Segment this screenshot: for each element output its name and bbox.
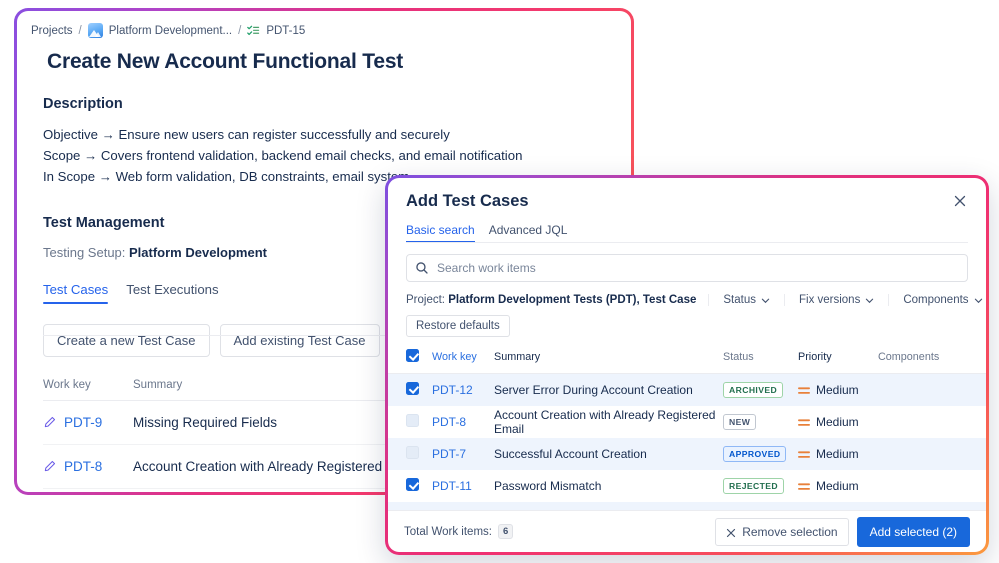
summary-text: Successful Account Creation [494,447,723,461]
tab-advanced-jql[interactable]: Advanced JQL [489,223,568,243]
modal-tabs: Basic search Advanced JQL [406,223,968,243]
search-icon [415,261,429,275]
priority-medium-icon [798,481,810,491]
filter-status-label: Status [723,294,756,306]
filter-fix-versions-label: Fix versions [799,294,860,306]
table-row[interactable]: PDT-12 Server Error During Account Creat… [388,374,986,406]
work-key-link[interactable]: PDT-7 [432,447,494,461]
summary-text: Account Creation with Already Registered… [494,408,723,436]
screenshot-root: Projects / Platform Development... / PDT… [0,0,999,563]
table-row[interactable]: PDT-8 Account Creation with Already Regi… [388,406,986,438]
page-title: Create New Account Functional Test [47,50,631,74]
summary-text: Account Creation with Already Registered… [133,459,420,474]
modal-header: Add Test Cases Basic search Advanced JQL [388,178,986,243]
tab-basic-search[interactable]: Basic search [406,223,475,243]
pencil-icon [43,460,56,473]
column-header-components: Components [878,351,968,363]
priority-medium-icon [798,385,810,395]
table-row[interactable]: PDT-11 Password Mismatch REJECTED Medium [388,470,986,502]
work-key-link[interactable]: PDT-8 [432,415,494,429]
priority-medium-icon [798,417,810,427]
chevron-down-icon [761,296,770,305]
total-work-items-count: 6 [498,524,513,539]
project-image-icon [88,23,103,38]
column-header-work-key: Work key [43,379,133,391]
summary-text: Password Mismatch [494,479,723,493]
row-checkbox[interactable] [406,382,419,395]
work-key-link[interactable]: PDT-12 [432,383,494,397]
add-test-cases-modal: Add Test Cases Basic search Advanced JQL [385,175,989,555]
filter-fix-versions-dropdown[interactable]: Fix versions [785,294,889,306]
table-row[interactable]: PDT-10 Invalid Email Format APPROVED Med… [388,502,986,510]
breadcrumb: Projects / Platform Development... / PDT… [17,11,631,38]
priority-label: Medium [816,415,859,429]
close-icon [726,527,736,537]
breadcrumb-project-link[interactable]: Platform Development... [109,25,232,37]
work-key-link[interactable]: PDT-11 [432,479,494,493]
row-checkbox[interactable] [406,414,419,427]
close-icon[interactable] [952,193,970,211]
breadcrumb-projects-link[interactable]: Projects [31,25,73,37]
row-checkbox[interactable] [406,478,419,491]
breadcrumb-separator-1: / [79,25,82,37]
add-existing-test-case-button[interactable]: Add existing Test Case [220,324,380,357]
status-badge: NEW [723,414,756,430]
tab-test-executions[interactable]: Test Executions [126,282,218,304]
priority-medium-icon [798,449,810,459]
remove-selection-button[interactable]: Remove selection [715,518,848,546]
description-heading: Description [43,96,631,112]
test-case-checklist-icon [247,24,260,37]
modal-footer-actions: Remove selection Add selected (2) [715,517,970,547]
filter-project-prefix: Project: [406,294,445,306]
work-key-link[interactable]: PDT-8 [64,459,102,474]
description-line: Objective → Ensure new users can registe… [43,124,631,145]
modal-footer: Total Work items: 6 Remove selection Add… [388,510,986,552]
status-badge: ARCHIVED [723,382,783,398]
summary-text: Server Error During Account Creation [494,383,723,397]
add-selected-button[interactable]: Add selected (2) [857,517,970,547]
row-checkbox[interactable] [406,446,419,459]
select-all-checkbox[interactable] [406,349,419,362]
priority-label: Medium [816,479,859,493]
filter-components-label: Components [903,294,968,306]
column-header-work-key: Work key [432,351,494,363]
search-input[interactable] [406,254,968,282]
pencil-icon [43,416,56,429]
summary-text: Missing Required Fields [133,415,277,430]
total-work-items: Total Work items: 6 [404,524,513,539]
modal-inner: Add Test Cases Basic search Advanced JQL [388,178,986,552]
status-badge: REJECTED [723,478,784,494]
filter-components-dropdown[interactable]: Components [889,294,986,306]
filter-project-value: Platform Development Tests (PDT), Test C… [448,294,696,306]
column-header-summary: Summary [133,379,182,391]
filter-project: Project: Platform Development Tests (PDT… [406,294,709,306]
status-badge: APPROVED [723,446,786,462]
column-header-priority: Priority [798,351,878,363]
breadcrumb-separator-2: / [238,25,241,37]
work-key-link[interactable]: PDT-9 [64,415,102,430]
filter-status-dropdown[interactable]: Status [709,294,785,306]
work-items-table: Work key Summary Status Priority Compone… [388,349,986,510]
modal-title: Add Test Cases [406,192,968,211]
tab-test-cases[interactable]: Test Cases [43,282,108,304]
search-field-wrapper [406,254,968,282]
chevron-down-icon [974,296,983,305]
description-line: Scope → Covers frontend validation, back… [43,145,631,166]
table-row[interactable]: PDT-7 Successful Account Creation APPROV… [388,438,986,470]
restore-defaults-row: Restore defaults [406,315,968,337]
create-new-test-case-button[interactable]: Create a new Test Case [43,324,210,357]
remove-selection-label: Remove selection [742,525,837,539]
restore-defaults-button[interactable]: Restore defaults [406,315,510,337]
testing-setup-label: Testing Setup: [43,245,125,260]
column-header-status: Status [723,351,798,363]
priority-label: Medium [816,383,859,397]
testing-setup-value: Platform Development [129,245,267,260]
work-items-table-header: Work key Summary Status Priority Compone… [388,349,986,374]
chevron-down-icon [865,296,874,305]
priority-label: Medium [816,447,859,461]
filter-bar: Project: Platform Development Tests (PDT… [406,294,968,306]
breadcrumb-issue-key[interactable]: PDT-15 [266,25,305,37]
total-work-items-label: Total Work items: [404,526,492,538]
modal-tabs-divider [406,242,968,243]
column-header-summary: Summary [494,351,723,363]
